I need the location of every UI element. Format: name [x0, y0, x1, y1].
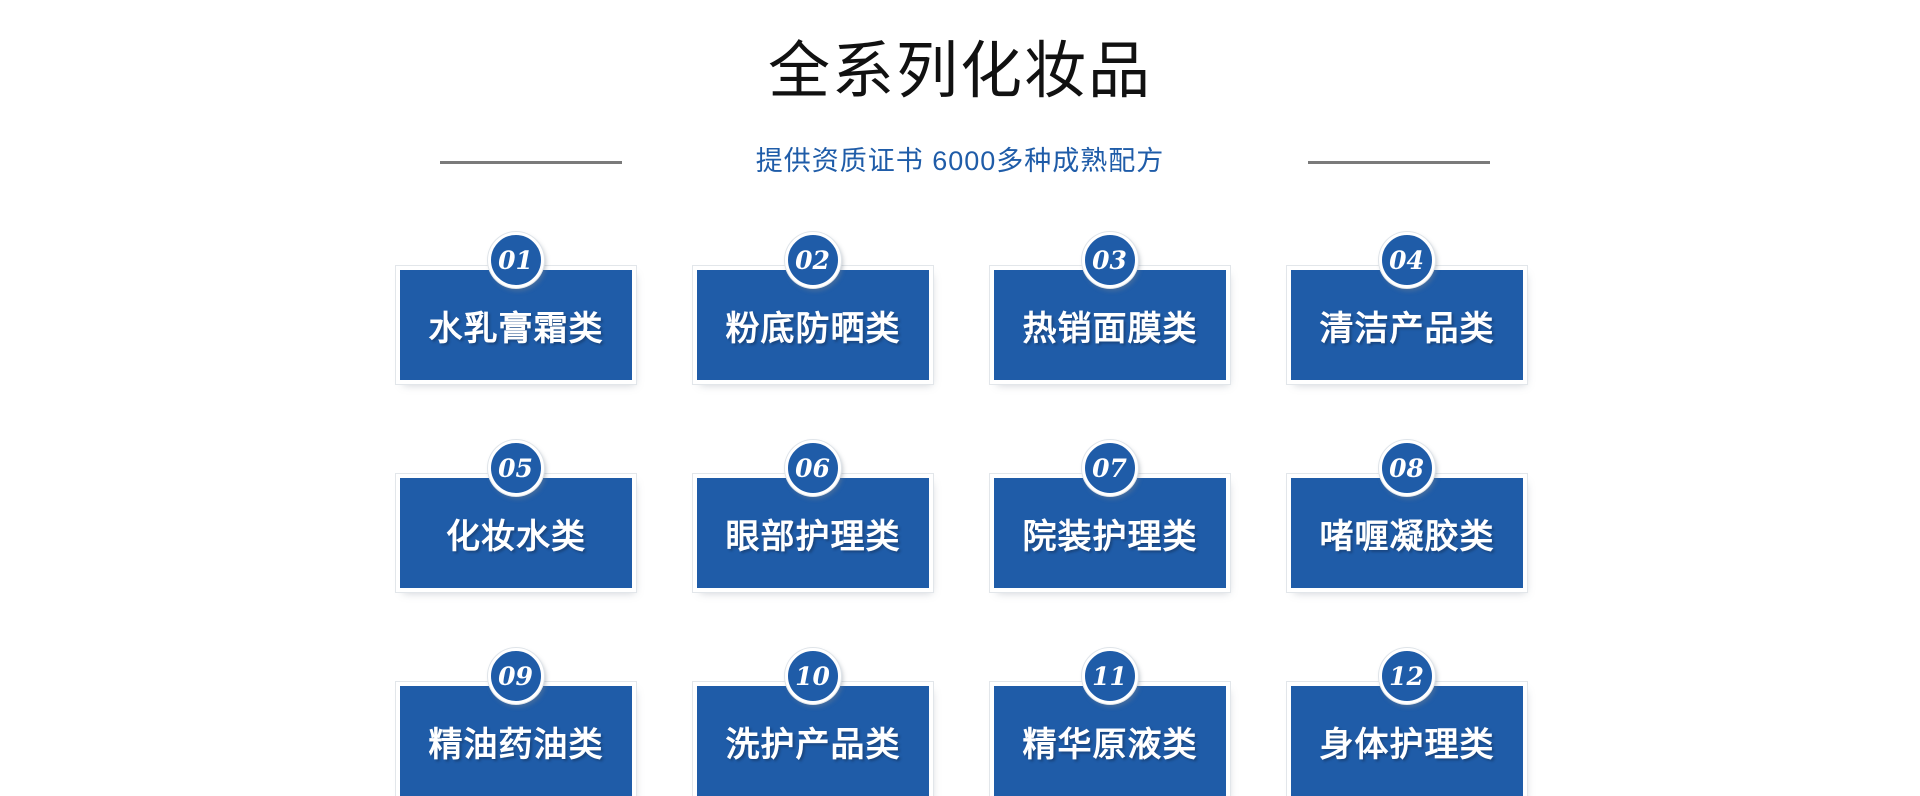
- page-subtitle: 提供资质证书 6000多种成熟配方: [660, 140, 1260, 182]
- category-card[interactable]: 院装护理类07: [994, 478, 1226, 588]
- divider-line-left: [440, 161, 622, 164]
- page-title: 全系列化妆品: [0, 38, 1920, 106]
- category-number-badge: 05: [488, 440, 544, 496]
- category-number-badge: 08: [1379, 440, 1435, 496]
- category-number-text: 05: [498, 456, 534, 481]
- product-category-banner: 全系列化妆品 提供资质证书 6000多种成熟配方 水乳膏霜类01粉底防晒类02热…: [0, 0, 1920, 750]
- category-number-badge: 07: [1082, 440, 1138, 496]
- divider-line-right: [1308, 161, 1490, 164]
- category-card[interactable]: 精油药油类09: [400, 686, 632, 796]
- category-number-text: 10: [795, 664, 831, 689]
- category-number-badge: 11: [1082, 648, 1138, 704]
- category-number-badge: 12: [1379, 648, 1435, 704]
- category-number-text: 04: [1389, 248, 1425, 273]
- category-card[interactable]: 眼部护理类06: [697, 478, 929, 588]
- category-number-text: 06: [795, 456, 831, 481]
- category-card[interactable]: 清洁产品类04: [1291, 270, 1523, 380]
- category-number-badge: 06: [785, 440, 841, 496]
- category-number-text: 11: [1092, 664, 1128, 689]
- category-card[interactable]: 粉底防晒类02: [697, 270, 929, 380]
- category-number-text: 02: [795, 248, 831, 273]
- category-number-badge: 04: [1379, 232, 1435, 288]
- category-card[interactable]: 啫喱凝胶类08: [1291, 478, 1523, 588]
- banner-header: 全系列化妆品 提供资质证书 6000多种成熟配方: [0, 0, 1920, 200]
- category-card[interactable]: 水乳膏霜类01: [400, 270, 632, 380]
- category-number-badge: 09: [488, 648, 544, 704]
- category-card[interactable]: 身体护理类12: [1291, 686, 1523, 796]
- subtitle-row: 提供资质证书 6000多种成熟配方: [0, 140, 1920, 184]
- category-number-badge: 02: [785, 232, 841, 288]
- category-card[interactable]: 精华原液类11: [994, 686, 1226, 796]
- category-number-text: 07: [1092, 456, 1128, 481]
- category-card[interactable]: 化妆水类05: [400, 478, 632, 588]
- category-number-text: 01: [498, 248, 534, 273]
- category-number-text: 03: [1092, 248, 1128, 273]
- category-number-badge: 01: [488, 232, 544, 288]
- category-number-badge: 10: [785, 648, 841, 704]
- category-number-text: 12: [1389, 664, 1425, 689]
- category-card[interactable]: 热销面膜类03: [994, 270, 1226, 380]
- category-number-badge: 03: [1082, 232, 1138, 288]
- category-card-grid: 水乳膏霜类01粉底防晒类02热销面膜类03清洁产品类04化妆水类05眼部护理类0…: [400, 232, 1522, 796]
- category-card[interactable]: 洗护产品类10: [697, 686, 929, 796]
- category-number-text: 08: [1389, 456, 1425, 481]
- category-number-text: 09: [498, 664, 534, 689]
